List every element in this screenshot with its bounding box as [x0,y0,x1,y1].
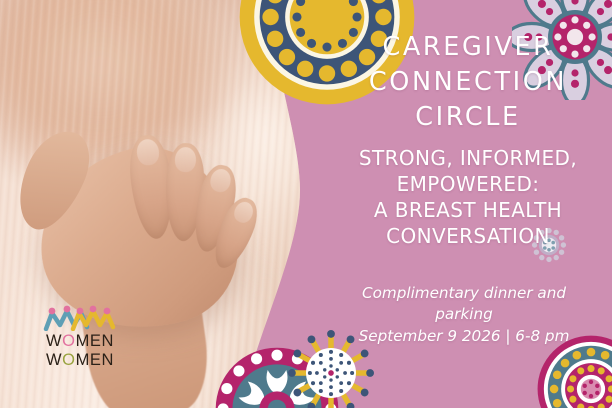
logo-o-pink: O [62,332,75,350]
logo-o-olive: O [62,351,75,369]
photo-nail [208,167,232,194]
logo-word-bottom: WOMEN [32,351,128,370]
details-line-2: parking [328,304,600,325]
subtitle-line-1: STRONG, INFORMED, [324,145,612,171]
organization-logo: WOMEN WOMEN [32,305,128,370]
event-details: Complimentary dinner and parking Septemb… [328,283,600,347]
poster-canvas: CAREGIVER CONNECTION CIRCLE STRONG, INFO… [0,0,612,408]
poster-subtitle: STRONG, INFORMED, EMPOWERED: A BREAST HE… [324,145,612,249]
title-line-1: CAREGIVER [324,30,612,65]
logo-word-bottom-part-a: W [46,351,62,369]
logo-word-top-part-a: W [46,332,62,350]
logo-word-top-part-b: MEN [76,332,114,350]
zigzag-crown-icon [43,305,117,331]
logo-word-top: WOMEN [32,332,128,351]
title-line-2: CONNECTION [324,65,612,100]
details-line-1: Complimentary dinner and [328,283,600,304]
subtitle-line-2: EMPOWERED: [324,171,612,197]
photo-nail [231,199,256,225]
photo-nail [175,147,197,173]
photo-nail [136,138,161,166]
title-line-3: CIRCLE [324,100,612,135]
poster-text-column: CAREGIVER CONNECTION CIRCLE STRONG, INFO… [324,0,612,408]
subtitle-line-4: CONVERSATION [324,223,612,249]
subtitle-line-3: A BREAST HEALTH [324,197,612,223]
page-title: CAREGIVER CONNECTION CIRCLE [324,30,612,135]
logo-word-bottom-part-b: MEN [76,351,114,369]
event-date-time: September 9 2026 | 6-8 pm [328,326,600,347]
